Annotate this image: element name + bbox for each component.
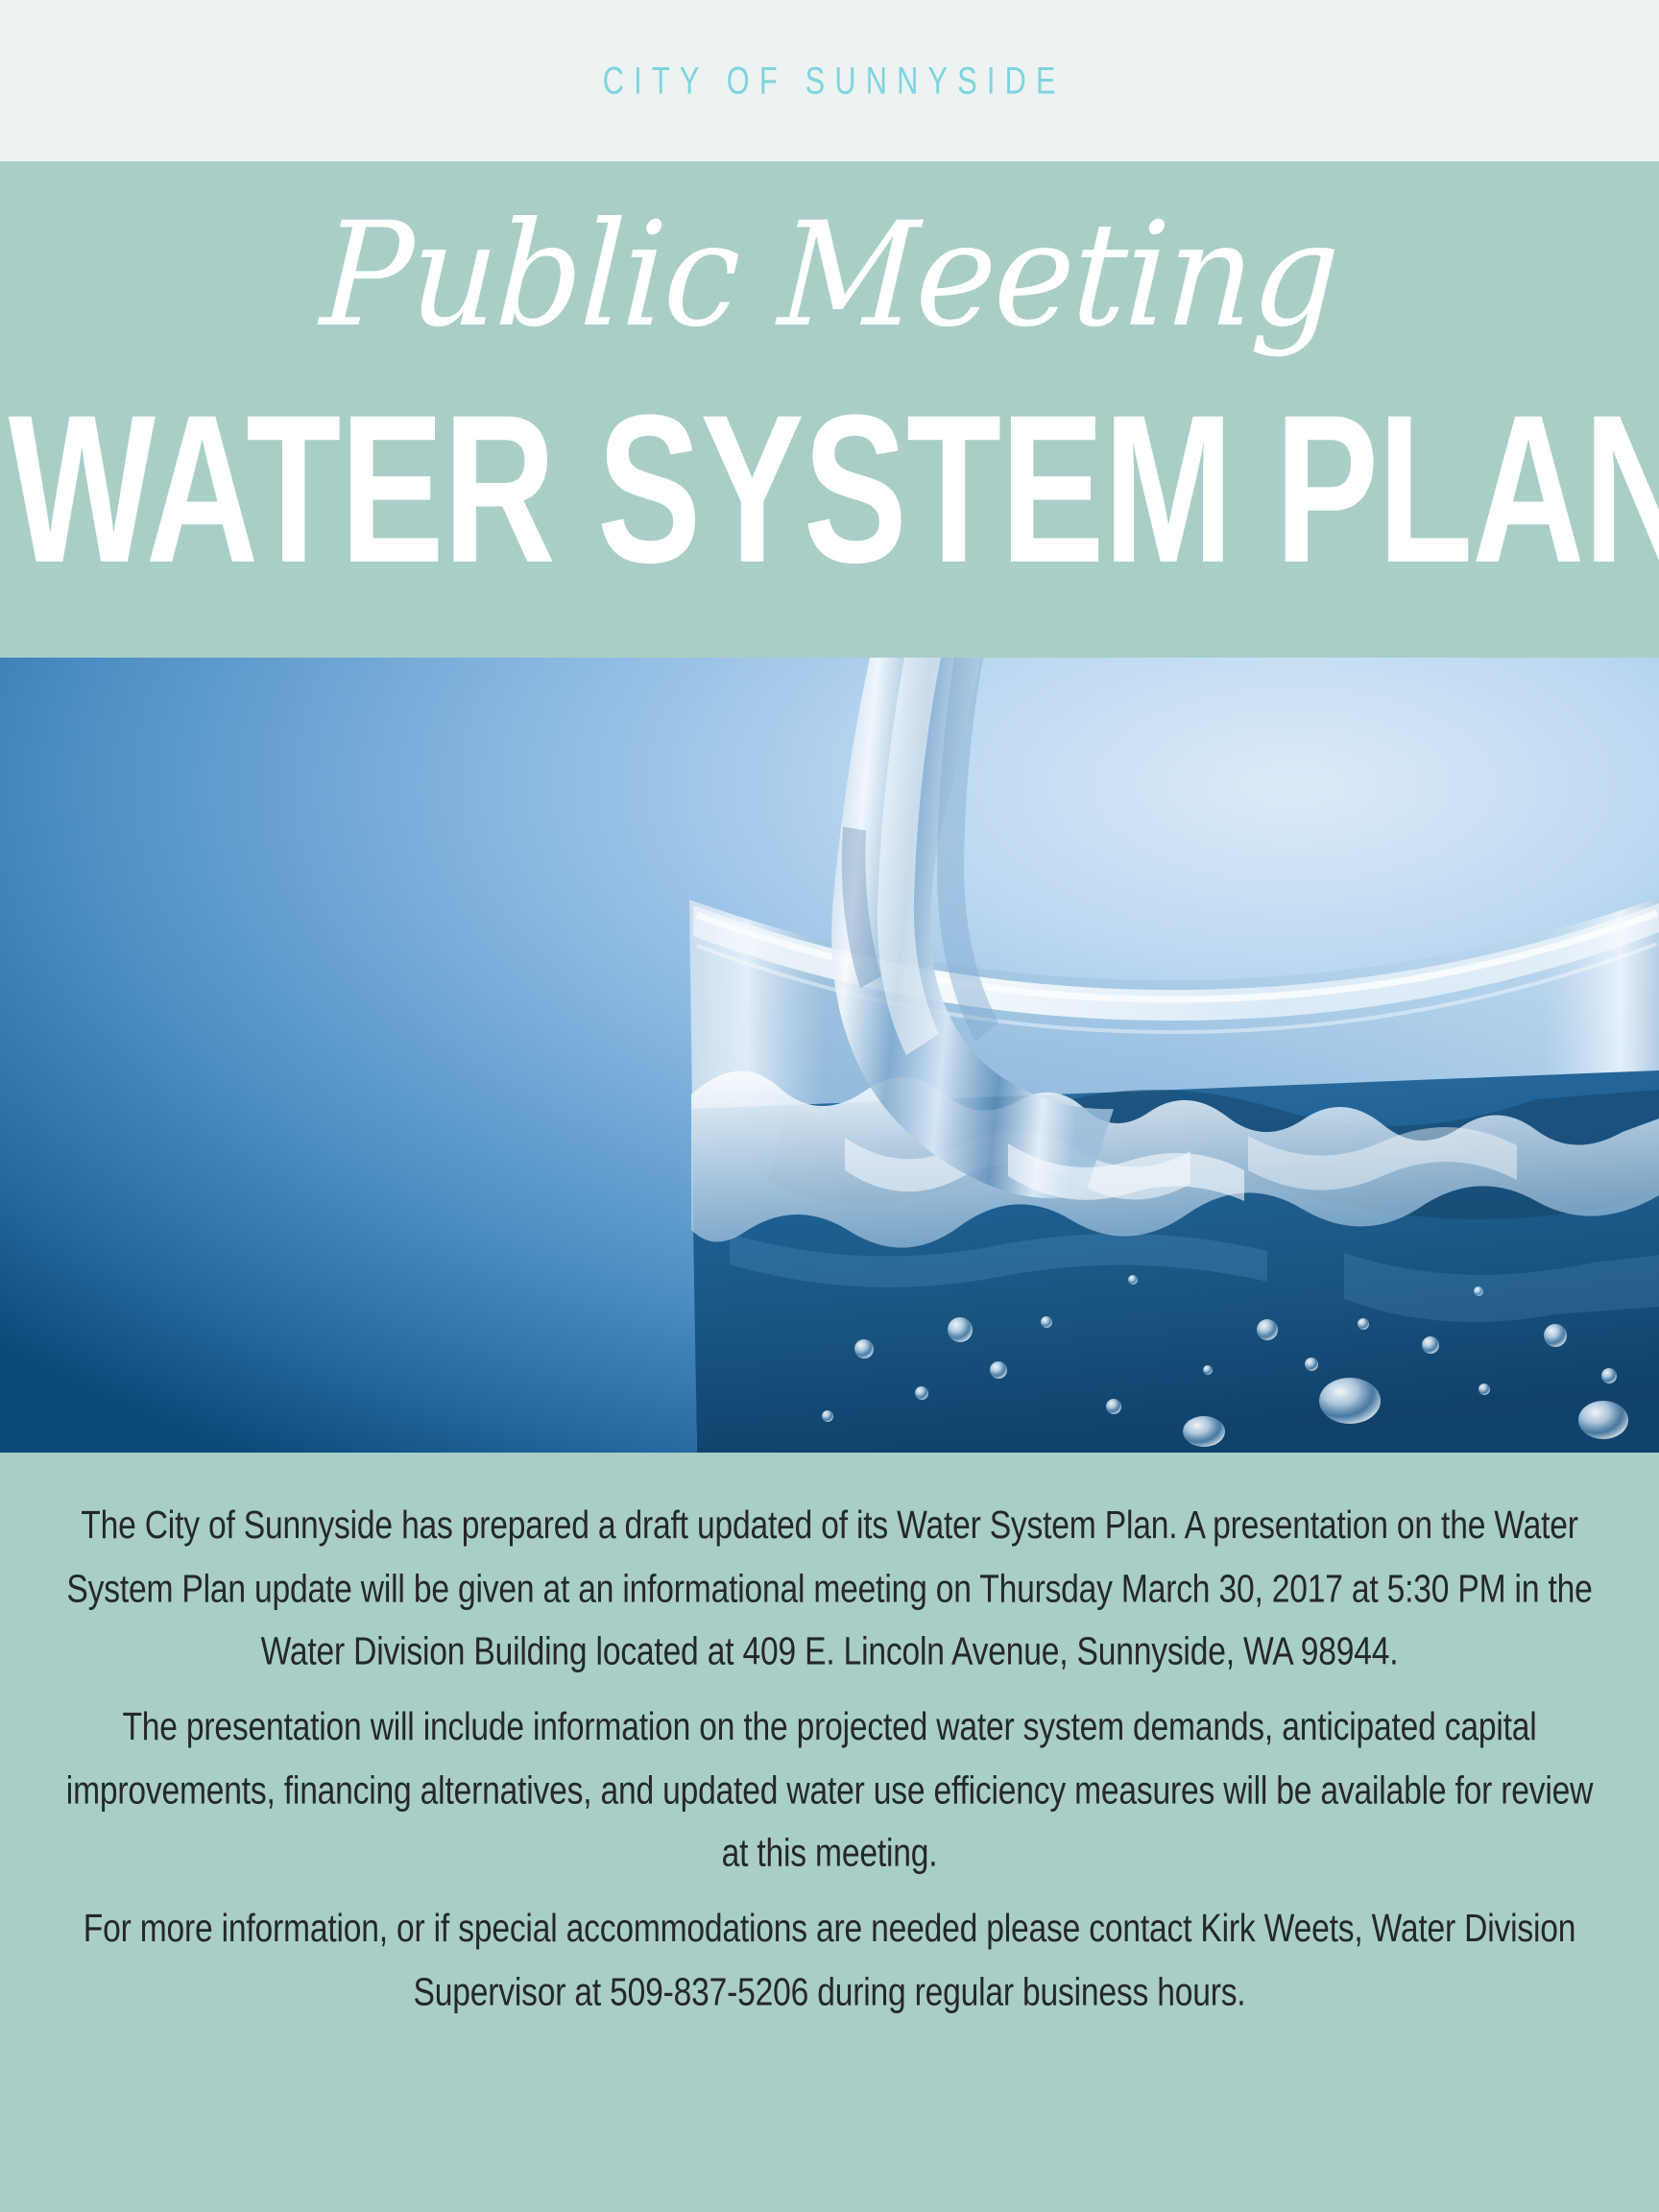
main-title-water-system-plan: WATER SYSTEM PLAN: [9, 384, 1651, 595]
body-copy-block: The City of Sunnyside has prepared a dra…: [0, 1453, 1659, 2212]
flyer-poster: CITY OF SUNNYSIDE Public Meeting WATER S…: [0, 0, 1659, 2212]
script-title-public-meeting: Public Meeting: [46, 204, 1613, 348]
eyebrow-bar: CITY OF SUNNYSIDE: [0, 0, 1659, 161]
title-band: Public Meeting WATER SYSTEM PLAN: [0, 161, 1659, 658]
paragraph-contact-info: For more information, or if special acco…: [59, 1898, 1599, 2025]
paragraph-meeting-details: The City of Sunnyside has prepared a dra…: [59, 1495, 1599, 1684]
water-glass-illustration: [0, 658, 1659, 1453]
water-glass-photo: [0, 658, 1659, 1453]
city-name-eyebrow: CITY OF SUNNYSIDE: [593, 59, 1066, 103]
paragraph-presentation-contents: The presentation will include informatio…: [59, 1696, 1599, 1886]
